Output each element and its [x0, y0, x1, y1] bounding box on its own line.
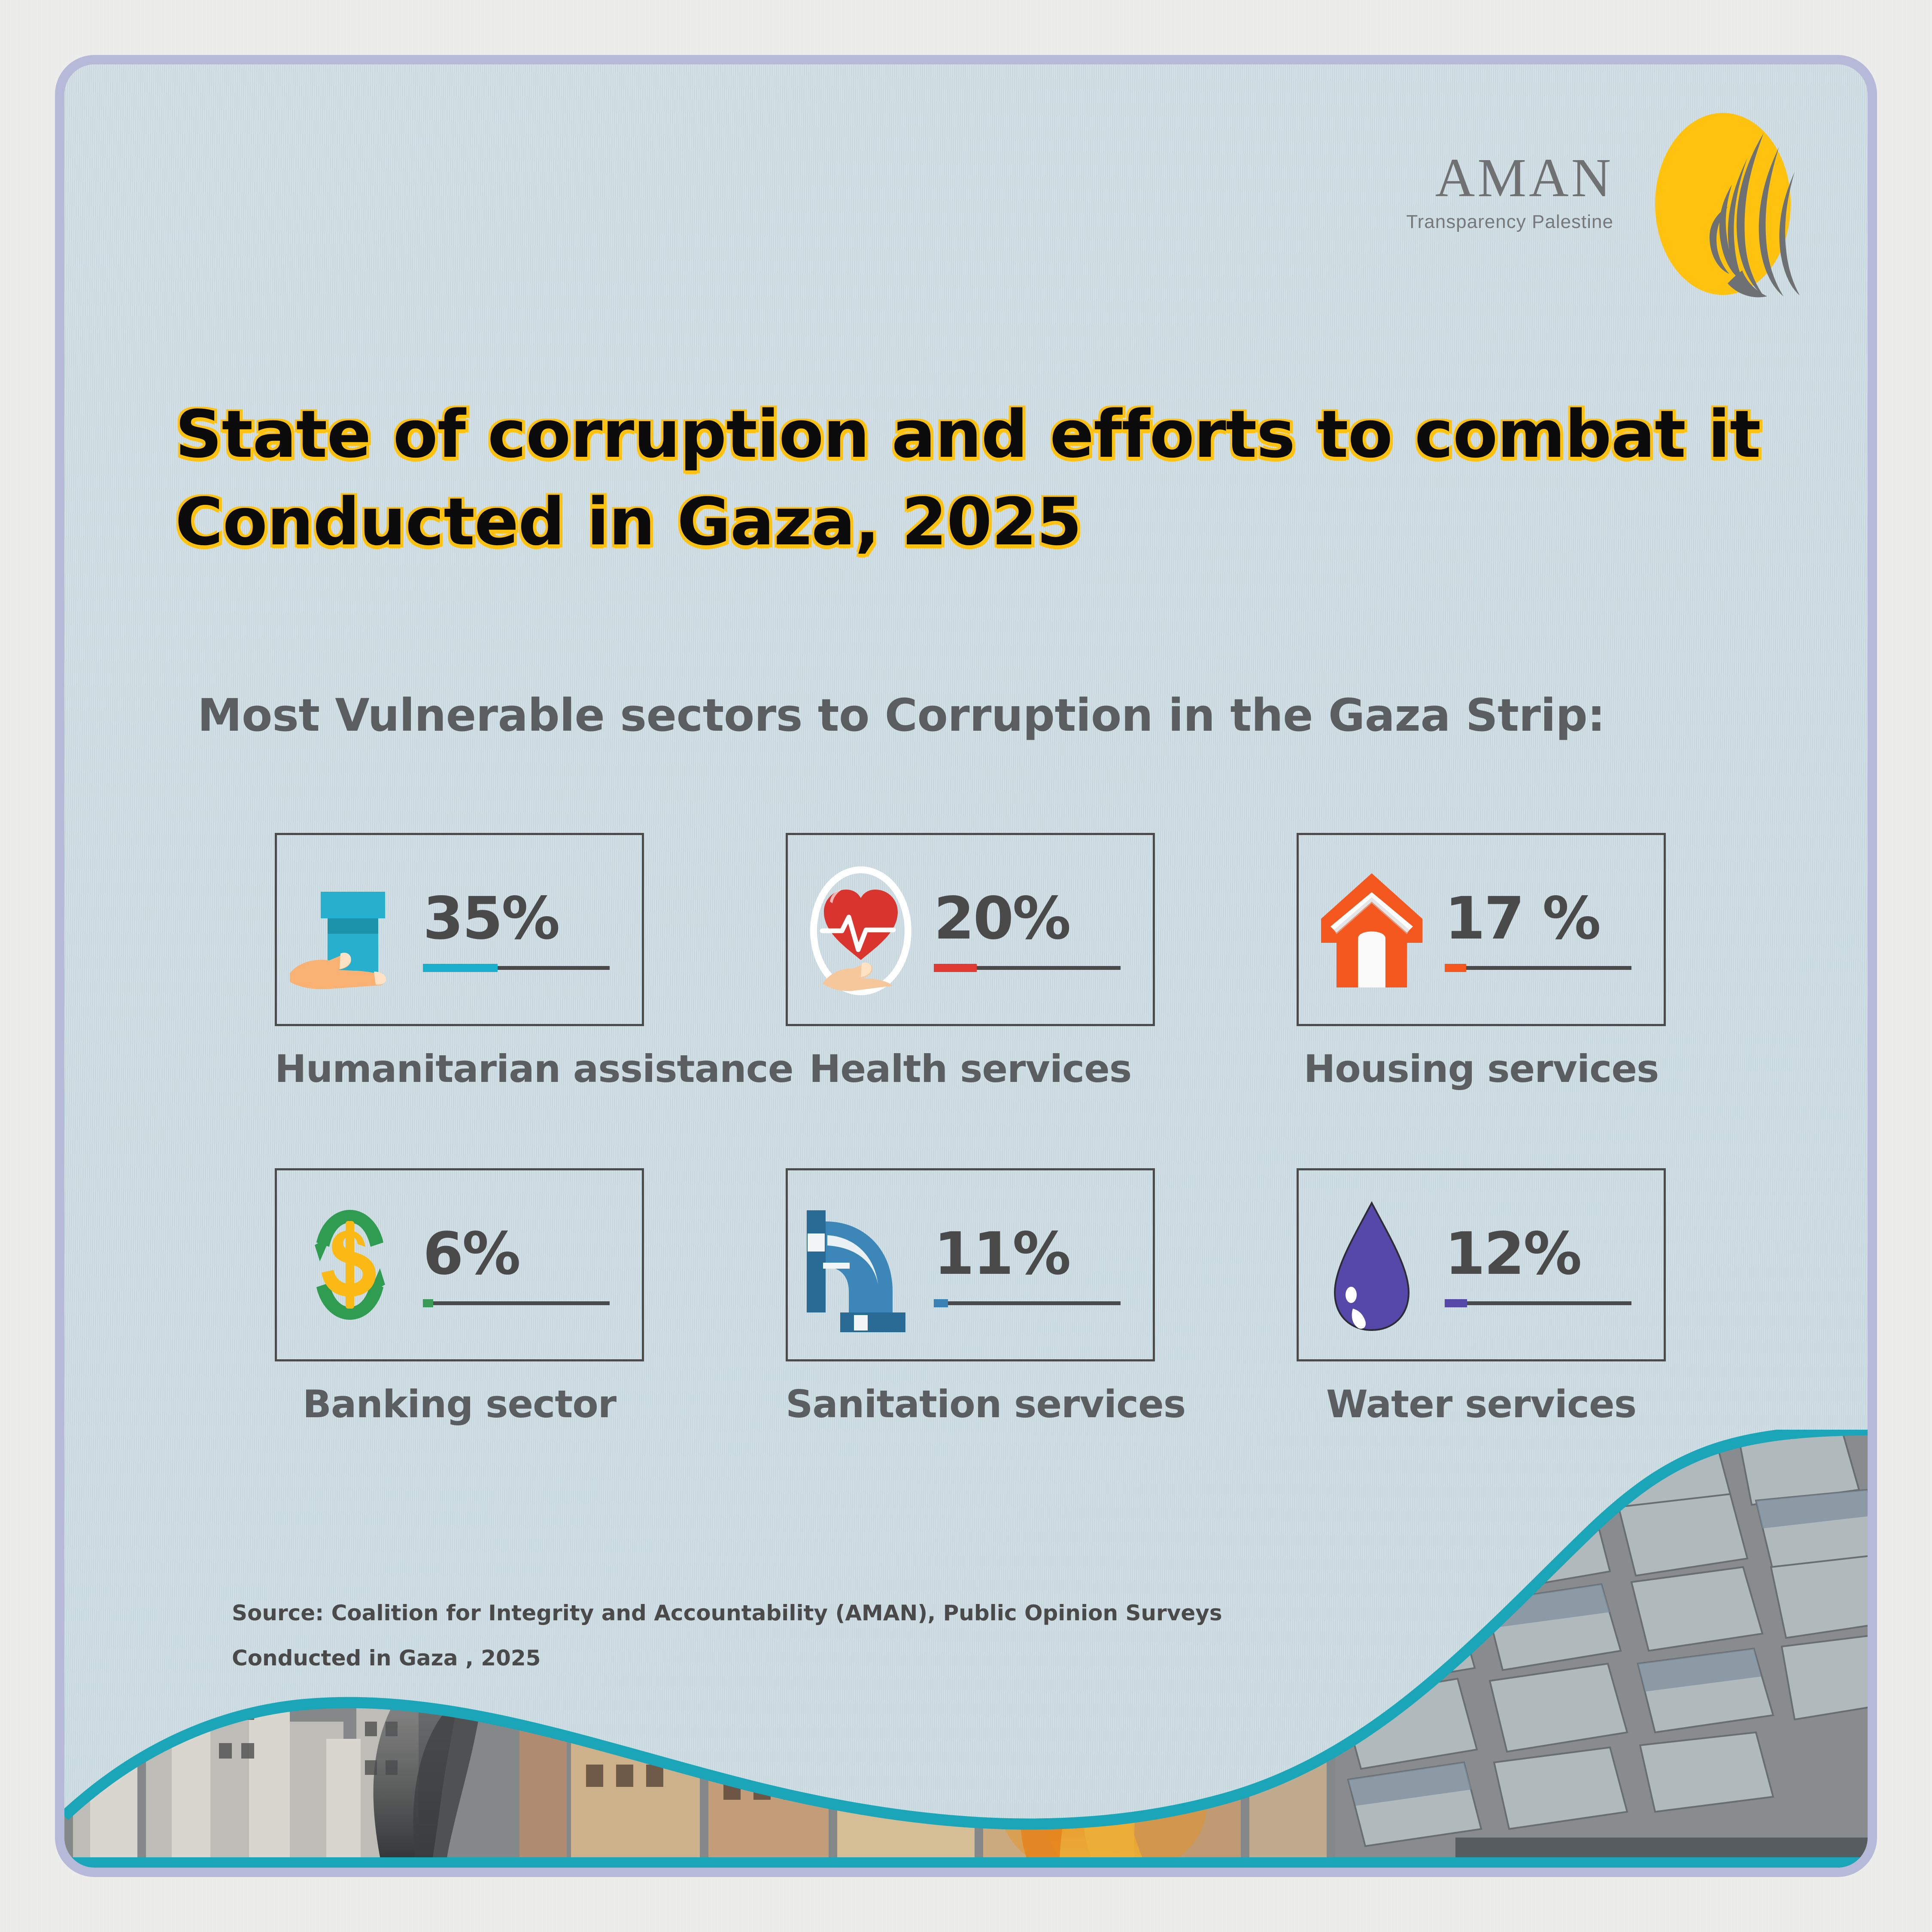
sector-progress-fill	[1445, 964, 1466, 972]
sector-card[interactable]: 11%	[786, 1168, 1155, 1361]
sector-progress-bar	[423, 966, 610, 970]
infographic-frame: AMAN Transparency Palestine	[55, 55, 1877, 1877]
house-icon	[1299, 833, 1445, 1026]
sector-label: Sanitation services	[786, 1382, 1155, 1426]
source-line-2: Conducted in Gaza , 2025	[232, 1636, 1222, 1681]
section-heading: Most Vulnerable sectors to Corruption in…	[197, 689, 1605, 741]
dollar-circular-arrows-icon	[277, 1168, 423, 1361]
sector-card[interactable]: 35%	[275, 833, 644, 1026]
sector-card-value: 17 %	[1445, 833, 1664, 1026]
sector-cell-health-services: 20% Health services	[786, 833, 1155, 1091]
page-title: State of corruption and efforts to comba…	[175, 391, 1635, 565]
sector-cell-housing-services: 17 % Housing services	[1297, 833, 1666, 1091]
sector-percent: 11%	[934, 1225, 1142, 1283]
sector-label: Humanitarian assistance	[275, 1047, 644, 1091]
sector-label: Housing services	[1297, 1047, 1666, 1091]
sector-percent: 35%	[423, 890, 631, 948]
title-line-2: Conducted in Gaza, 2025	[175, 478, 1635, 566]
sector-progress-bar	[934, 966, 1121, 970]
sector-label: Banking sector	[275, 1382, 644, 1426]
source-line-1: Source: Coalition for Integrity and Acco…	[232, 1591, 1222, 1636]
sector-label: Health services	[786, 1047, 1155, 1091]
sector-progress-fill	[423, 1299, 433, 1307]
elbow-pipe-icon	[788, 1168, 934, 1361]
logo-tagline: Transparency Palestine	[1339, 211, 1613, 233]
sector-progress-bar	[1445, 966, 1631, 970]
sector-label: Water services	[1297, 1382, 1666, 1426]
logo-name: AMAN	[1339, 150, 1613, 205]
sector-card[interactable]: 6%	[275, 1168, 644, 1361]
sector-card-value: 6%	[423, 1168, 642, 1361]
logo-wordmark: AMAN Transparency Palestine	[1339, 150, 1613, 233]
sector-card[interactable]: 12%	[1297, 1168, 1666, 1361]
sector-progress-fill	[934, 1299, 948, 1307]
sector-progress-bar	[934, 1301, 1121, 1305]
sector-progress-fill	[423, 964, 498, 972]
sector-cell-humanitarian-assistance: 35% Humanitarian assistance	[275, 833, 644, 1091]
sector-percent: 20%	[934, 890, 1142, 948]
heart-pulse-in-hand-icon	[788, 833, 934, 1026]
sector-card-value: 11%	[934, 1168, 1153, 1361]
infographic-page: AMAN Transparency Palestine	[0, 0, 1932, 1932]
sector-progress-bar	[423, 1301, 610, 1305]
sector-percent: 17 %	[1445, 890, 1653, 948]
sector-progress-bar	[1445, 1301, 1631, 1305]
sector-card-value: 12%	[1445, 1168, 1664, 1361]
sector-card-value: 35%	[423, 833, 642, 1026]
sector-percent: 12%	[1445, 1225, 1653, 1283]
sector-cell-sanitation-services: 11% Sanitation services	[786, 1168, 1155, 1426]
sector-card[interactable]: 17 %	[1297, 833, 1666, 1026]
source-note: Source: Coalition for Integrity and Acco…	[232, 1591, 1222, 1681]
sector-card-grid: 35% Humanitarian assistance	[275, 833, 1700, 1426]
title-line-1: State of corruption and efforts to comba…	[175, 391, 1635, 478]
sector-progress-fill	[1445, 1299, 1467, 1307]
hand-holding-aid-box-icon	[277, 833, 423, 1026]
sector-card-value: 20%	[934, 833, 1153, 1026]
sector-percent: 6%	[423, 1225, 631, 1283]
water-droplet-icon	[1299, 1168, 1445, 1361]
sector-card[interactable]: 20%	[786, 833, 1155, 1026]
sector-cell-water-services: 12% Water services	[1297, 1168, 1666, 1426]
sector-progress-fill	[934, 964, 977, 972]
sector-cell-banking-sector: 6% Banking sector	[275, 1168, 644, 1426]
aman-flame-icon	[1635, 107, 1820, 301]
aman-logo: AMAN Transparency Palestine	[1339, 107, 1837, 305]
